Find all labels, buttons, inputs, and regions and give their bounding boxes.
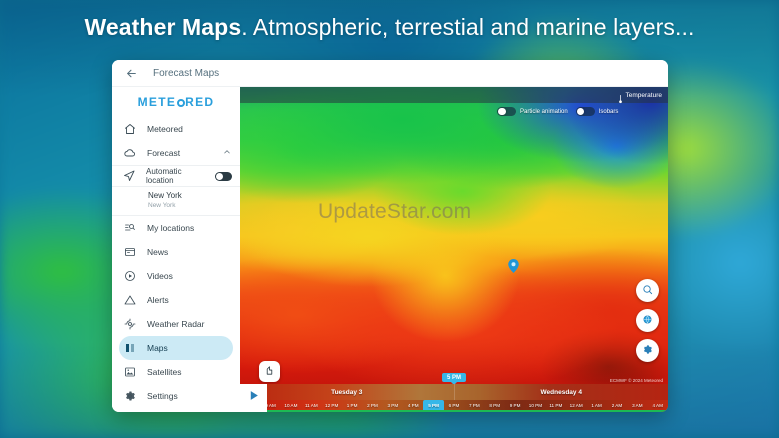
temperature-layer-image <box>240 87 668 412</box>
sidebar-item-label: News <box>147 247 168 257</box>
particle-animation-toggle-group[interactable]: Particle animation <box>497 107 568 116</box>
sidebar-item-settings[interactable]: Settings <box>112 384 240 408</box>
toggle-knob <box>216 173 223 180</box>
news-icon <box>123 246 136 259</box>
gear-icon <box>642 342 653 360</box>
map-pin-icon[interactable] <box>508 259 519 273</box>
logo-text-post: RED <box>185 95 214 109</box>
sidebar-item-forecast[interactable]: Forecast <box>112 141 240 165</box>
sidebar-item-alerts[interactable]: Alerts <box>112 288 240 312</box>
timeline[interactable]: Tuesday 3Wednesday 4 8 AM9 AM10 AM11 AM1… <box>240 384 668 412</box>
play-button[interactable] <box>240 384 267 412</box>
headline-rest: . Atmospheric, terrestial and marine lay… <box>241 14 694 40</box>
sidebar-item-label: Settings <box>147 391 178 401</box>
layers-button[interactable] <box>636 309 659 332</box>
sidebar-item-maps[interactable]: Maps <box>119 336 233 360</box>
satellite-icon <box>123 366 136 379</box>
sidebar-item-meteored[interactable]: Meteored <box>112 117 240 141</box>
locations-icon <box>123 222 136 235</box>
map-action-buttons <box>636 279 659 362</box>
app-body: METERED Meteored Forecast <box>112 87 668 412</box>
current-location-name: New York <box>148 190 240 201</box>
sidebar-item-label: Videos <box>147 271 173 281</box>
radar-icon <box>123 318 136 331</box>
isobars-toggle-group[interactable]: Isobars <box>576 107 619 116</box>
app-bar: Forecast Maps <box>112 60 668 87</box>
automatic-location-toggle[interactable] <box>215 172 232 181</box>
app-window: Forecast Maps METERED Meteored Forecast <box>112 60 668 412</box>
timeline-day: Tuesday 3 <box>240 384 454 400</box>
sidebar-item-label: Maps <box>147 343 168 353</box>
particle-animation-label: Particle animation <box>520 109 568 115</box>
search-icon <box>642 282 653 300</box>
headline-bold: Weather Maps <box>85 14 242 40</box>
cloud-icon <box>123 147 136 160</box>
map-top-bar: Temperature <box>240 87 668 103</box>
timeline-day-bar: Tuesday 3Wednesday 4 <box>240 384 668 400</box>
play-icon <box>247 389 260 407</box>
sidebar-item-satellites[interactable]: Satellites <box>112 360 240 384</box>
sidebar-item-videos[interactable]: Videos <box>112 264 240 288</box>
sidebar-item-my-locations[interactable]: My locations <box>112 216 240 240</box>
toggle-knob <box>577 108 585 116</box>
automatic-location-row[interactable]: Automatic location <box>112 165 240 187</box>
play-circle-icon <box>123 270 136 283</box>
navigation-icon <box>123 170 135 183</box>
map-settings-button[interactable] <box>636 339 659 362</box>
isobars-toggle[interactable] <box>576 107 595 116</box>
current-time-badge: 5 PM <box>442 373 466 382</box>
warning-icon <box>123 294 136 307</box>
automatic-location-label: Automatic location <box>146 167 204 185</box>
logo-text-pre: METE <box>138 95 177 109</box>
meteored-logo: METERED <box>112 90 240 114</box>
back-arrow-icon[interactable] <box>123 65 140 82</box>
bottom-accent-line <box>240 410 668 412</box>
map-credit: ECMWF © 2024 Meteored <box>610 378 663 383</box>
map-layer-label: Temperature <box>626 92 663 99</box>
sidebar-item-label: Meteored <box>147 124 183 134</box>
home-icon <box>123 123 136 136</box>
current-location-row[interactable]: New York New York <box>112 187 240 216</box>
share-layers-icon <box>264 363 275 381</box>
sidebar-item-label: Forecast <box>147 148 180 158</box>
page-headline: Weather Maps. Atmospheric, terrestial an… <box>0 14 779 41</box>
share-layers-button[interactable] <box>259 361 280 382</box>
sidebar-item-label: Weather Radar <box>147 319 204 329</box>
sidebar-item-news[interactable]: News <box>112 240 240 264</box>
search-button[interactable] <box>636 279 659 302</box>
particle-animation-toggle[interactable] <box>497 107 516 116</box>
map-toggle-group: Particle animation Isobars <box>497 107 618 116</box>
sidebar: METERED Meteored Forecast <box>112 87 240 412</box>
sidebar-item-label: My locations <box>147 223 194 233</box>
layers-globe-icon <box>642 312 653 330</box>
toggle-knob <box>498 108 506 116</box>
timeline-day: Wednesday 4 <box>454 384 669 400</box>
logo-o-icon <box>177 99 185 107</box>
gear-icon <box>123 390 136 403</box>
map-icon <box>123 342 136 355</box>
weather-map[interactable]: Temperature Particle animation Isobars U… <box>240 87 668 412</box>
app-bar-title: Forecast Maps <box>153 68 219 79</box>
chevron-up-icon <box>223 148 231 158</box>
sidebar-item-label: Satellites <box>147 367 182 377</box>
sidebar-item-weather-radar[interactable]: Weather Radar <box>112 312 240 336</box>
sidebar-item-label: Alerts <box>147 295 169 305</box>
thermometer-icon <box>618 91 622 100</box>
current-location-region: New York <box>148 201 240 210</box>
isobars-label: Isobars <box>599 109 619 115</box>
